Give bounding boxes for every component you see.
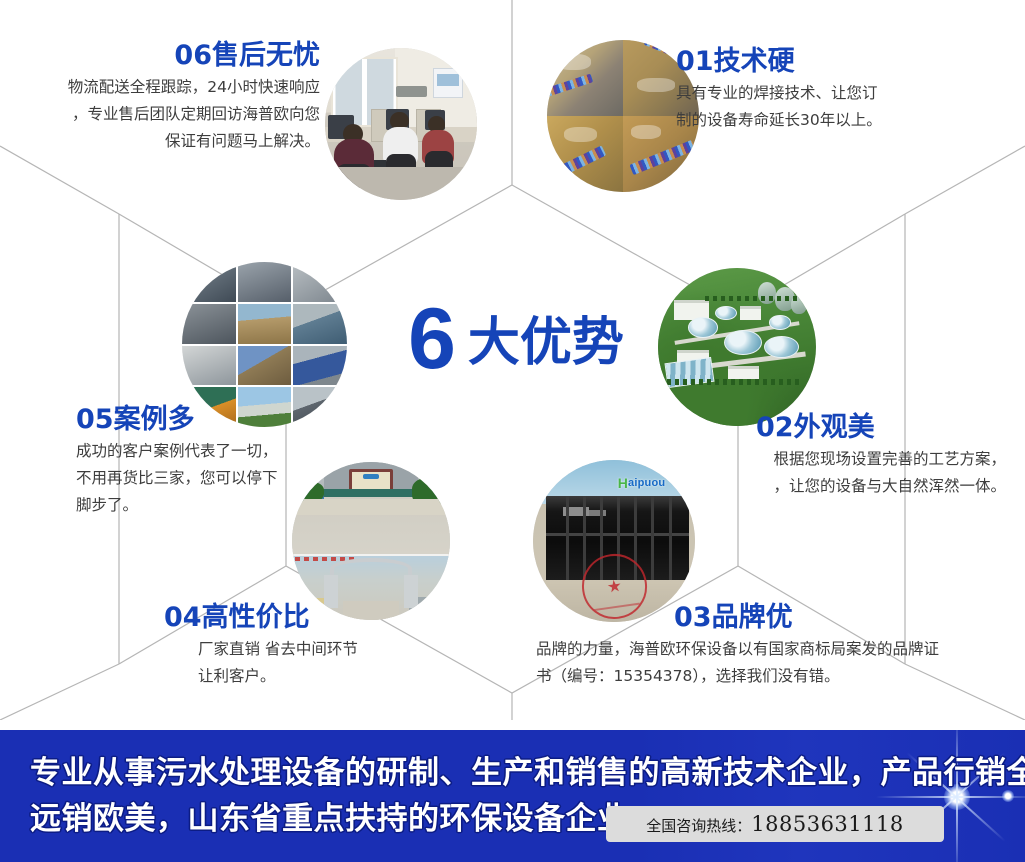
bottom-banner: 专业从事污水处理设备的研制、生产和销售的高新技术企业，产品行销全国并 远销欧美，… xyxy=(0,730,1025,862)
feature-06-body: 物流配送全程跟踪，24小时快速响应 ，专业售后团队定期回访海普欧向您 保证有问题… xyxy=(10,74,320,154)
photo-aerial-plant xyxy=(658,268,816,426)
aerial-plant-illustration xyxy=(658,268,816,426)
feature-02-line-2: ，让您的设备与大自然浑然一体。 xyxy=(640,473,1006,500)
feature-04-line-2: 让利客户。 xyxy=(198,663,504,690)
feature-03: 03品牌优 品牌的力量，海普欧环保设备以有国家商标局案发的品牌证 书（编号：15… xyxy=(536,604,1006,690)
hotline-label: 全国咨询热线： xyxy=(646,817,751,835)
hotline-text: 全国咨询热线：18853631118 xyxy=(646,812,904,836)
sparkle-small-icon xyxy=(1002,790,1014,802)
feature-03-body: 品牌的力量，海普欧环保设备以有国家商标局案发的品牌证 书（编号：15354378… xyxy=(536,636,1006,689)
feature-03-line-2: 书（编号：15354378），选择我们没有错。 xyxy=(536,663,1006,690)
logo-h-mark: H xyxy=(618,475,628,491)
feature-05-title: 05案例多 xyxy=(76,406,406,434)
hotline-box[interactable]: 全国咨询热线：18853631118 xyxy=(606,806,944,842)
feature-05-line-3: 脚步了。 xyxy=(76,492,406,519)
guide-left-upper xyxy=(0,146,119,214)
feature-03-line-1: 品牌的力量，海普欧环保设备以有国家商标局案发的品牌证 xyxy=(536,636,1006,663)
center-label-text: 大优势 xyxy=(468,317,624,369)
feature-05: 05案例多 成功的客户案例代表了一切， 不用再货比三家，您可以停下 脚步了。 xyxy=(76,406,406,518)
center-number: 6 xyxy=(408,296,456,382)
feature-01-title: 01技术硬 xyxy=(676,48,1006,76)
feature-02-title: 02外观美 xyxy=(640,414,1006,442)
feature-05-line-1: 成功的客户案例代表了一切， xyxy=(76,438,406,465)
center-headline: 6 大优势 xyxy=(381,288,651,398)
feature-05-line-2: 不用再货比三家，您可以停下 xyxy=(76,465,406,492)
office-staff-illustration xyxy=(325,48,477,200)
case-grid-illustration xyxy=(182,262,347,427)
feature-06-line-1: 物流配送全程跟踪，24小时快速响应 xyxy=(10,74,320,101)
feature-01-body: 具有专业的焊接技术、让您订 制的设备寿命延长30年以上。 xyxy=(676,80,1006,133)
hotline-number: 18853631118 xyxy=(751,812,903,836)
feature-02-body: 根据您现场设置完善的工艺方案， ，让您的设备与大自然浑然一体。 xyxy=(640,446,1006,499)
feature-04-body: 厂家直销 省去中间环节 让利客户。 xyxy=(164,636,504,689)
photo-office-staff xyxy=(325,48,477,200)
banner-line-1: 专业从事污水处理设备的研制、生产和销售的高新技术企业，产品行销全国并 xyxy=(30,750,995,796)
infographic-stage: 6 大优势 xyxy=(0,0,1025,720)
feature-01-line-1: 具有专业的焊接技术、让您订 xyxy=(676,80,1006,107)
feature-06-line-2: ，专业售后团队定期回访海普欧向您 xyxy=(10,101,320,128)
feature-04-line-1: 厂家直销 省去中间环节 xyxy=(198,636,504,663)
feature-02-line-1: 根据您现场设置完善的工艺方案， xyxy=(640,446,1006,473)
feature-03-title: 03品牌优 xyxy=(536,604,1006,632)
feature-05-body: 成功的客户案例代表了一切， 不用再货比三家，您可以停下 脚步了。 xyxy=(76,438,406,518)
feature-02: 02外观美 根据您现场设置完善的工艺方案， ，让您的设备与大自然浑然一体。 xyxy=(640,414,1006,500)
guide-left-lower xyxy=(0,664,119,720)
feature-04-title: 04高性价比 xyxy=(164,604,504,632)
feature-06-line-3: 保证有问题马上解决。 xyxy=(10,128,320,155)
feature-01: 01技术硬 具有专业的焊接技术、让您订 制的设备寿命延长30年以上。 xyxy=(676,48,1006,134)
feature-01-line-2: 制的设备寿命延长30年以上。 xyxy=(676,107,1006,134)
feature-06: 06售后无忧 物流配送全程跟踪，24小时快速响应 ，专业售后团队定期回访海普欧向… xyxy=(10,42,320,154)
photo-case-grid xyxy=(182,262,347,427)
guide-right-upper xyxy=(905,146,1025,214)
feature-04: 04高性价比 厂家直销 省去中间环节 让利客户。 xyxy=(164,604,504,690)
feature-06-title: 06售后无忧 xyxy=(10,42,320,70)
